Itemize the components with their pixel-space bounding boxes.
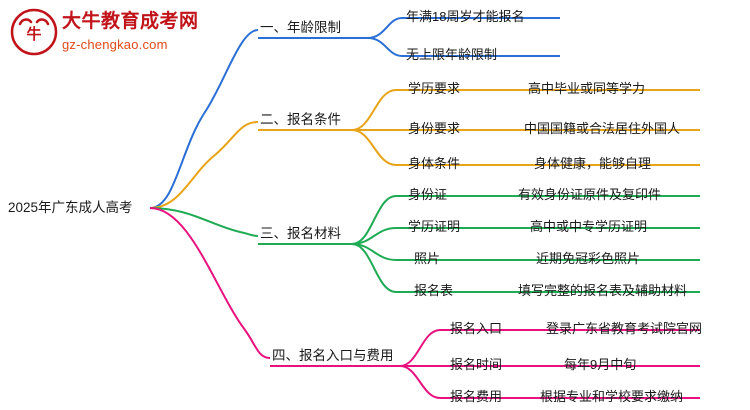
leaf-key-identity: 身份要求 <box>408 121 460 137</box>
logo-title: 大牛教育成考网 <box>62 10 227 34</box>
leaf-key-diploma: 学历证明 <box>408 219 460 235</box>
leaf-value-id-card: 有效身份证原件及复印件 <box>518 187 661 203</box>
leaf-key-education: 学历要求 <box>408 81 460 97</box>
leaf-value-diploma: 高中或中专学历证明 <box>530 219 647 235</box>
leaf-key-form: 报名表 <box>414 283 453 299</box>
leaf-value-entry-portal: 登录广东省教育考试院官网 <box>546 321 702 337</box>
leaf-value-health: 身体健康，能够自理 <box>534 156 651 172</box>
leaf-value-entry-time: 每年9月中旬 <box>564 357 636 373</box>
site-logo[interactable]: 牛 大牛教育成考网 gz-chengkao.com <box>10 8 225 58</box>
leaf-key-health: 身体条件 <box>408 156 460 172</box>
leaf-value-form: 填写完整的报名表及辅助材料 <box>518 283 687 299</box>
branch-label-requirements: 二、报名条件 <box>260 112 341 128</box>
leaf-key-entry-time: 报名时间 <box>450 357 502 373</box>
leaf-value-identity: 中国国籍或合法居住外国人 <box>524 121 680 137</box>
leaf-key-age-min: 年满18周岁才能报名 <box>406 9 524 25</box>
leaf-value-education: 高中毕业或同等学力 <box>528 81 645 97</box>
leaf-value-entry-fee: 根据专业和学校要求缴纳 <box>540 389 683 405</box>
logo-subtitle: gz-chengkao.com <box>62 36 227 54</box>
logo-bull-icon: 牛 <box>10 8 58 56</box>
mindmap-root-label: 2025年广东成人高考 <box>8 200 133 216</box>
branch-label-entry-fee: 四、报名入口与费用 <box>272 348 394 364</box>
leaf-key-photo: 照片 <box>414 251 440 267</box>
branch-label-age-limit: 一、年龄限制 <box>260 20 341 36</box>
leaf-value-photo: 近期免冠彩色照片 <box>536 251 640 267</box>
branch-label-materials: 三、报名材料 <box>260 226 341 242</box>
leaf-key-age-max: 无上限年龄限制 <box>406 47 497 63</box>
leaf-key-id-card: 身份证 <box>408 187 447 203</box>
leaf-key-entry-portal: 报名入口 <box>450 321 502 337</box>
svg-text:牛: 牛 <box>26 25 41 43</box>
leaf-key-entry-fee: 报名费用 <box>450 389 502 405</box>
